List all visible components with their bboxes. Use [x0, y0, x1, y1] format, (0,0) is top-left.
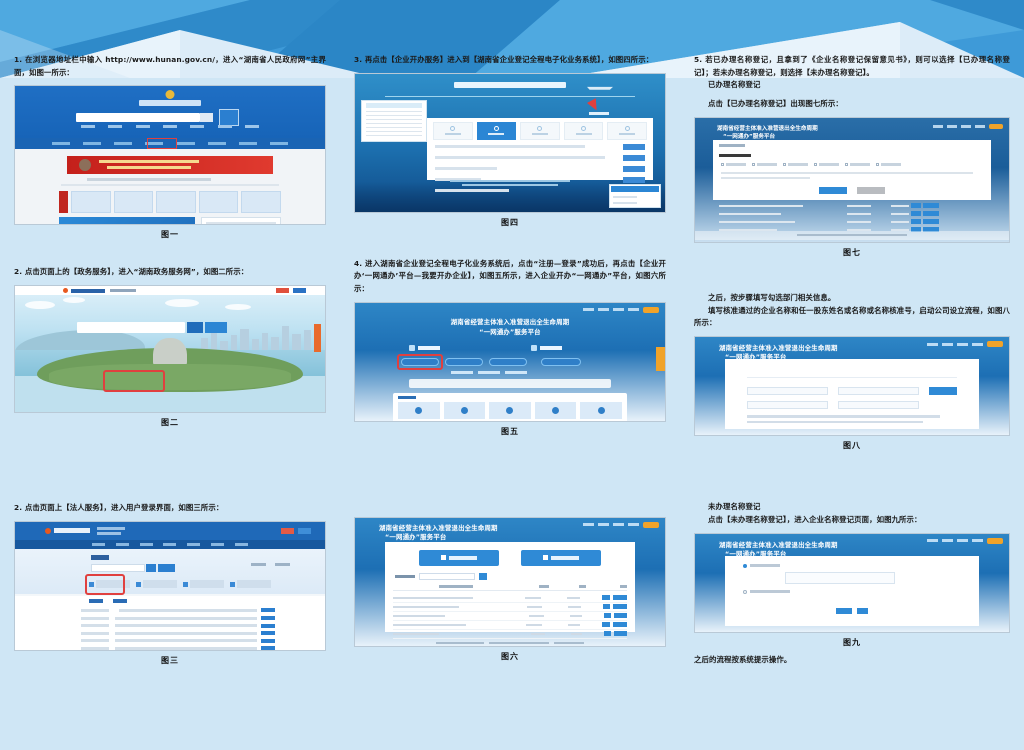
login-button[interactable]	[298, 528, 311, 534]
table-header	[393, 585, 627, 591]
frequent-item	[398, 402, 440, 419]
back-button[interactable]	[857, 608, 868, 614]
panel-divider	[747, 377, 957, 378]
gov-logo-icon	[63, 288, 68, 293]
figure-7-caption: 图七	[694, 247, 1010, 258]
button-change-info[interactable]	[445, 358, 483, 366]
spacer	[14, 40, 326, 54]
note-2-line-2: 点击【未办理名称登记】，进入企业名称登记页面，如图九所示：	[694, 514, 1010, 527]
table-row	[719, 210, 985, 218]
platform-title-line2: “一网通办”服务平台	[385, 532, 665, 541]
side-service-tab[interactable]	[314, 324, 321, 352]
figure-8: 湖南省经营主体准入准营退出全生命周期 “一网通办”服务平台	[694, 336, 1010, 451]
search-button[interactable]	[200, 113, 213, 122]
button-no-name-registration[interactable]	[419, 550, 499, 566]
form-row	[747, 401, 957, 409]
spacer	[694, 471, 1010, 491]
spacer	[14, 488, 326, 502]
figure-9: 湖南省经营主体准入准营退出全生命周期 “一网通办”服务平台 图九	[694, 533, 1010, 648]
dialog-breadcrumb	[719, 144, 745, 147]
platform-title-line1: 湖南省经营主体准入准营退出全生命周期	[717, 124, 818, 132]
table-row	[719, 202, 985, 210]
spacer	[354, 40, 666, 54]
highlight-box-start-business	[397, 354, 443, 370]
spacer	[694, 20, 1010, 40]
tab-item	[607, 122, 647, 140]
national-emblem-icon	[166, 90, 175, 99]
service-list-panel	[15, 596, 325, 650]
figure-5-caption: 图五	[354, 426, 666, 437]
radio-use-approved-name[interactable]	[743, 590, 790, 594]
figure-8-caption: 图八	[694, 440, 1010, 451]
extra-field[interactable]	[838, 401, 919, 409]
checkbox-option	[814, 163, 839, 166]
dialog-description	[721, 172, 983, 181]
figure-5: 湖南省经营主体准入准营退出全生命周期 “一网通办”服务平台	[354, 302, 666, 437]
figure-4-caption: 图四	[354, 217, 666, 228]
checkbox-option	[876, 163, 901, 166]
button-has-name-registration[interactable]	[521, 550, 601, 566]
spacer	[354, 248, 666, 258]
list-item	[435, 155, 645, 161]
fig-2-screenshot	[14, 285, 326, 413]
highlight-box-business-startup-service	[85, 574, 125, 595]
platform-footer	[355, 642, 665, 644]
column-left: 1. 在浏览器地址栏中输入 http://www.hunan.gov.cn/，进…	[0, 0, 340, 750]
query-button[interactable]	[929, 387, 957, 395]
form-note	[747, 415, 957, 426]
application-rows	[393, 594, 627, 639]
red-pointer-arrow	[587, 98, 601, 112]
spacer	[14, 468, 326, 488]
site-name	[54, 528, 90, 533]
site-subname	[110, 289, 136, 292]
figure-6-caption: 图六	[354, 651, 666, 662]
spacer	[14, 428, 326, 448]
form-row	[747, 387, 957, 395]
shareholder-name-field[interactable]	[838, 387, 919, 395]
dialog-actions[interactable]	[713, 187, 991, 194]
figure-2-caption: 图二	[14, 417, 326, 428]
spacer	[694, 40, 1010, 54]
filter-search-button[interactable]	[479, 573, 487, 580]
frequent-item	[489, 402, 531, 419]
note-2-line-1: 未办理名称登记	[694, 501, 1010, 514]
portal-header	[15, 522, 325, 540]
site-subname-line2	[97, 532, 121, 535]
table-row	[719, 218, 985, 226]
filter-input[interactable]	[419, 573, 475, 580]
system-title	[454, 82, 566, 88]
cancel-action-buttons[interactable]	[541, 358, 581, 366]
service-tabs[interactable]	[433, 122, 647, 140]
next-step-button[interactable]	[836, 608, 852, 614]
card-row[interactable]	[59, 191, 281, 213]
service-search-input[interactable]	[91, 564, 145, 572]
side-floating-tab[interactable]	[656, 347, 665, 371]
step-5-subheading: 已办理名称登记	[694, 79, 1010, 92]
group-cancel	[531, 345, 562, 351]
gov-site-title	[139, 100, 201, 106]
search-input[interactable]	[77, 322, 185, 333]
spacer	[14, 448, 326, 468]
quick-entry-item	[183, 577, 224, 592]
section-label-frequent	[398, 396, 416, 399]
table-row	[115, 647, 275, 650]
figure-2: 图二	[14, 285, 326, 428]
card-item[interactable]	[114, 191, 154, 213]
tab-item	[520, 122, 560, 140]
closing-text: 之后的流程按系统提示操作。	[694, 654, 1010, 667]
figure-6: 湖南省经营主体准入准营退出全生命周期 “一网通办”服务平台	[354, 517, 666, 662]
radio-self-declare[interactable]	[743, 564, 780, 568]
cloud	[63, 297, 85, 303]
dialog-title	[719, 154, 751, 157]
register-button[interactable]	[276, 288, 289, 293]
spacer	[354, 437, 666, 457]
table-row	[393, 621, 627, 630]
quick-entry-item	[230, 577, 271, 592]
news-banner[interactable]	[67, 156, 273, 174]
search-icon-button[interactable]	[146, 564, 156, 572]
news-list-panel	[201, 217, 281, 225]
highlight-box-government-services	[147, 138, 177, 149]
cancel-button[interactable]	[857, 187, 885, 194]
frequent-item	[444, 402, 486, 419]
platform-footer	[695, 231, 1009, 240]
table-row	[115, 609, 275, 612]
list-item	[435, 166, 645, 172]
fig-9-screenshot: 湖南省经营主体准入准营退出全生命周期 “一网通办”服务平台	[694, 533, 1010, 633]
highlight-box-legal-person-services	[103, 370, 165, 392]
table-row	[393, 630, 627, 639]
category-sidebar[interactable]	[81, 609, 109, 648]
cloud	[165, 299, 199, 307]
frequent-items-row[interactable]	[398, 402, 622, 419]
tab-item	[564, 122, 604, 140]
step-2-text: 2. 点击页面上的【政务服务】，进入“湖南政务服务网”，如图二所示：	[14, 266, 326, 279]
fig-3-screenshot	[14, 521, 326, 651]
figure-3: 图三	[14, 521, 326, 666]
frequent-items-panel	[393, 393, 627, 421]
spacer	[14, 20, 326, 40]
setup-dialog	[713, 140, 991, 200]
spacer	[694, 278, 1010, 292]
registration-panel	[385, 542, 635, 632]
platform-title-line2: “一网通办”服务平台	[723, 132, 775, 140]
panel-actions[interactable]	[725, 608, 979, 614]
fig-6-screenshot: 湖南省经营主体准入准营退出全生命周期 “一网通办”服务平台	[354, 517, 666, 647]
zwfw-header	[15, 286, 325, 295]
figure-4: 图四	[354, 73, 666, 228]
leader-photo	[79, 159, 91, 171]
name-registration-panel	[725, 556, 979, 626]
vertical-red-label	[59, 191, 68, 213]
step-3-middle-text: 3. 再点击【企业开办服务】进入到【湖南省企业登记全程电子化业务系统】，如图四所…	[354, 54, 666, 67]
frequent-item	[535, 402, 577, 419]
step-1-text: 1. 在浏览器地址栏中输入 http://www.hunan.gov.cn/，进…	[14, 54, 326, 79]
fig-7-screenshot: 湖南省经营主体准入准营退出全生命周期 “一网通办”服务平台	[694, 117, 1010, 243]
note-1: 之后，按步骤填写勾选部门相关信息。 填写核准通过的企业名称和任一股东姓名或名称或…	[694, 292, 1010, 330]
filter-bar[interactable]	[395, 573, 625, 580]
tab-item-active	[477, 122, 517, 140]
spacer	[14, 240, 326, 260]
fig-1-screenshot	[14, 85, 326, 225]
card-item[interactable]	[241, 191, 281, 213]
site-subname-line1	[97, 527, 125, 530]
query-form	[747, 387, 957, 415]
name-query-panel	[725, 359, 979, 429]
divider	[385, 96, 635, 97]
spacer	[354, 477, 666, 497]
headline-text	[87, 178, 211, 181]
banner-line-2	[107, 166, 191, 169]
search-button[interactable]	[187, 322, 203, 333]
platform-title-line1: 湖南省经营主体准入准营退出全生命周期	[719, 540, 1009, 549]
card-item[interactable]	[156, 191, 196, 213]
service-panel	[427, 118, 653, 180]
card-item[interactable]	[71, 191, 111, 213]
platform-search-input[interactable]	[409, 379, 611, 388]
orange-isle-foreground	[49, 364, 291, 390]
step-3-text: 2. 点击页面上【法人服务】，进入用户登录界面，如图三所示：	[14, 502, 326, 515]
checkbox-option	[752, 163, 777, 166]
spacer	[14, 0, 326, 20]
group-open-change	[409, 345, 440, 351]
spacer	[354, 497, 666, 511]
step-5-subtext: 点击【已办理名称登记】出现图七所示：	[694, 98, 1010, 111]
note-1-line-1: 之后，按步骤填写勾选部门相关信息。	[694, 292, 1010, 305]
step-5-text: 5. 若已办理名称登记，且拿到了《企业名称登记保留意见书》，则可以选择【已办理名…	[694, 54, 1010, 79]
table-row	[115, 639, 275, 642]
figure-1-caption: 图一	[14, 229, 326, 240]
smart-search-button[interactable]	[205, 322, 227, 333]
button-cancel-business[interactable]	[541, 358, 581, 366]
subheadline-text	[61, 184, 279, 186]
fig-5-screenshot: 湖南省经营主体准入准营退出全生命周期 “一网通办”服务平台	[354, 302, 666, 422]
banner-line-1	[99, 160, 199, 163]
figure-9-caption: 图九	[694, 637, 1010, 648]
notice-panel	[361, 100, 427, 142]
shortcut-tags[interactable]	[451, 371, 527, 374]
ship-icon	[587, 83, 613, 90]
button-record-filing[interactable]	[489, 358, 527, 366]
stat-links[interactable]	[251, 563, 291, 572]
quick-entry-item	[136, 577, 177, 592]
spacer	[354, 457, 666, 477]
gov-logo-icon	[45, 528, 51, 534]
column-middle: 3. 再点击【企业开办服务】进入到【湖南省企业登记全程电子化业务系统】，如图四所…	[340, 0, 680, 750]
list-item	[435, 144, 645, 150]
cloud	[225, 304, 251, 310]
table-row	[393, 612, 627, 621]
spacer	[694, 491, 1010, 501]
spacer	[694, 258, 1010, 278]
promo-banner[interactable]	[59, 217, 195, 225]
note-1-line-2: 填写核准通过的企业名称和任一股东姓名或名称或名称核准号，启动公司设立流程，如图八…	[694, 305, 1010, 330]
online-service-box[interactable]	[609, 184, 661, 208]
frequent-item	[580, 402, 622, 419]
search-input[interactable]	[76, 113, 200, 122]
guide-page: 1. 在浏览器地址栏中输入 http://www.hunan.gov.cn/，进…	[0, 0, 1024, 750]
qr-code-icon	[219, 109, 239, 126]
fig-8-screenshot: 湖南省经营主体准入准营退出全生命周期 “一网通办”服务平台	[694, 336, 1010, 436]
column-right: 5. 若已办理名称登记，且拿到了《企业名称登记保留意见书》，则可以选择【已办理名…	[680, 0, 1024, 750]
site-name	[71, 289, 105, 293]
approval-number-field[interactable]	[747, 401, 828, 409]
registration-choice-buttons[interactable]	[419, 550, 601, 566]
application-rows	[719, 202, 985, 234]
chat-header	[611, 186, 659, 192]
confirm-button[interactable]	[819, 187, 847, 194]
table-row	[115, 617, 275, 620]
note-2: 未办理名称登记 点击【未办理名称登记】，进入企业名称登记页面，如图九所示：	[694, 501, 1010, 526]
search-button[interactable]	[158, 564, 175, 572]
filter-label	[395, 575, 415, 578]
register-button[interactable]	[281, 528, 294, 534]
platform-title-line2: “一网通办”服务平台	[355, 327, 665, 336]
tab-item	[433, 122, 473, 140]
section-title-legal-person	[91, 555, 109, 560]
list-tabs[interactable]	[89, 599, 127, 603]
table-row	[393, 594, 627, 603]
top-quick-links[interactable]	[81, 125, 259, 129]
card-item[interactable]	[199, 191, 239, 213]
platform-title-line1: 湖南省经营主体准入准营退出全生命周期	[379, 523, 665, 532]
figure-3-caption: 图三	[14, 655, 326, 666]
login-button[interactable]	[293, 288, 306, 293]
table-row	[115, 624, 275, 627]
checkbox-option	[783, 163, 808, 166]
notice-title	[366, 103, 422, 108]
table-row	[393, 603, 627, 612]
step-4-text: 4. 进入湖南省企业登记全程电子化业务系统后，点击“注册—登录”成功后，再点击【…	[354, 258, 666, 296]
register-login-link[interactable]	[589, 112, 609, 115]
platform-title-line1: 湖南省经营主体准入准营退出全生命周期	[355, 317, 665, 326]
name-input[interactable]	[785, 572, 895, 584]
company-name-field[interactable]	[747, 387, 828, 395]
spacer	[354, 20, 666, 40]
checkbox-option	[721, 163, 746, 166]
spacer	[694, 451, 1010, 471]
spacer	[694, 0, 1010, 20]
table-row	[115, 632, 275, 635]
spacer	[354, 228, 666, 248]
department-checkbox-row[interactable]	[721, 163, 983, 166]
platform-topnav[interactable]	[583, 307, 659, 313]
checkbox-option	[845, 163, 870, 166]
fig-4-screenshot	[354, 73, 666, 213]
platform-title-line1: 湖南省经营主体准入准营退出全生命周期	[719, 343, 1009, 352]
figure-1: 图一	[14, 85, 326, 240]
spacer	[354, 0, 666, 20]
figure-7: 湖南省经营主体准入准营退出全生命周期 “一网通办”服务平台	[694, 117, 1010, 258]
cloud	[25, 301, 55, 309]
portal-nav[interactable]	[15, 540, 325, 549]
platform-topnav[interactable]	[933, 124, 1003, 129]
service-rows	[115, 609, 275, 648]
